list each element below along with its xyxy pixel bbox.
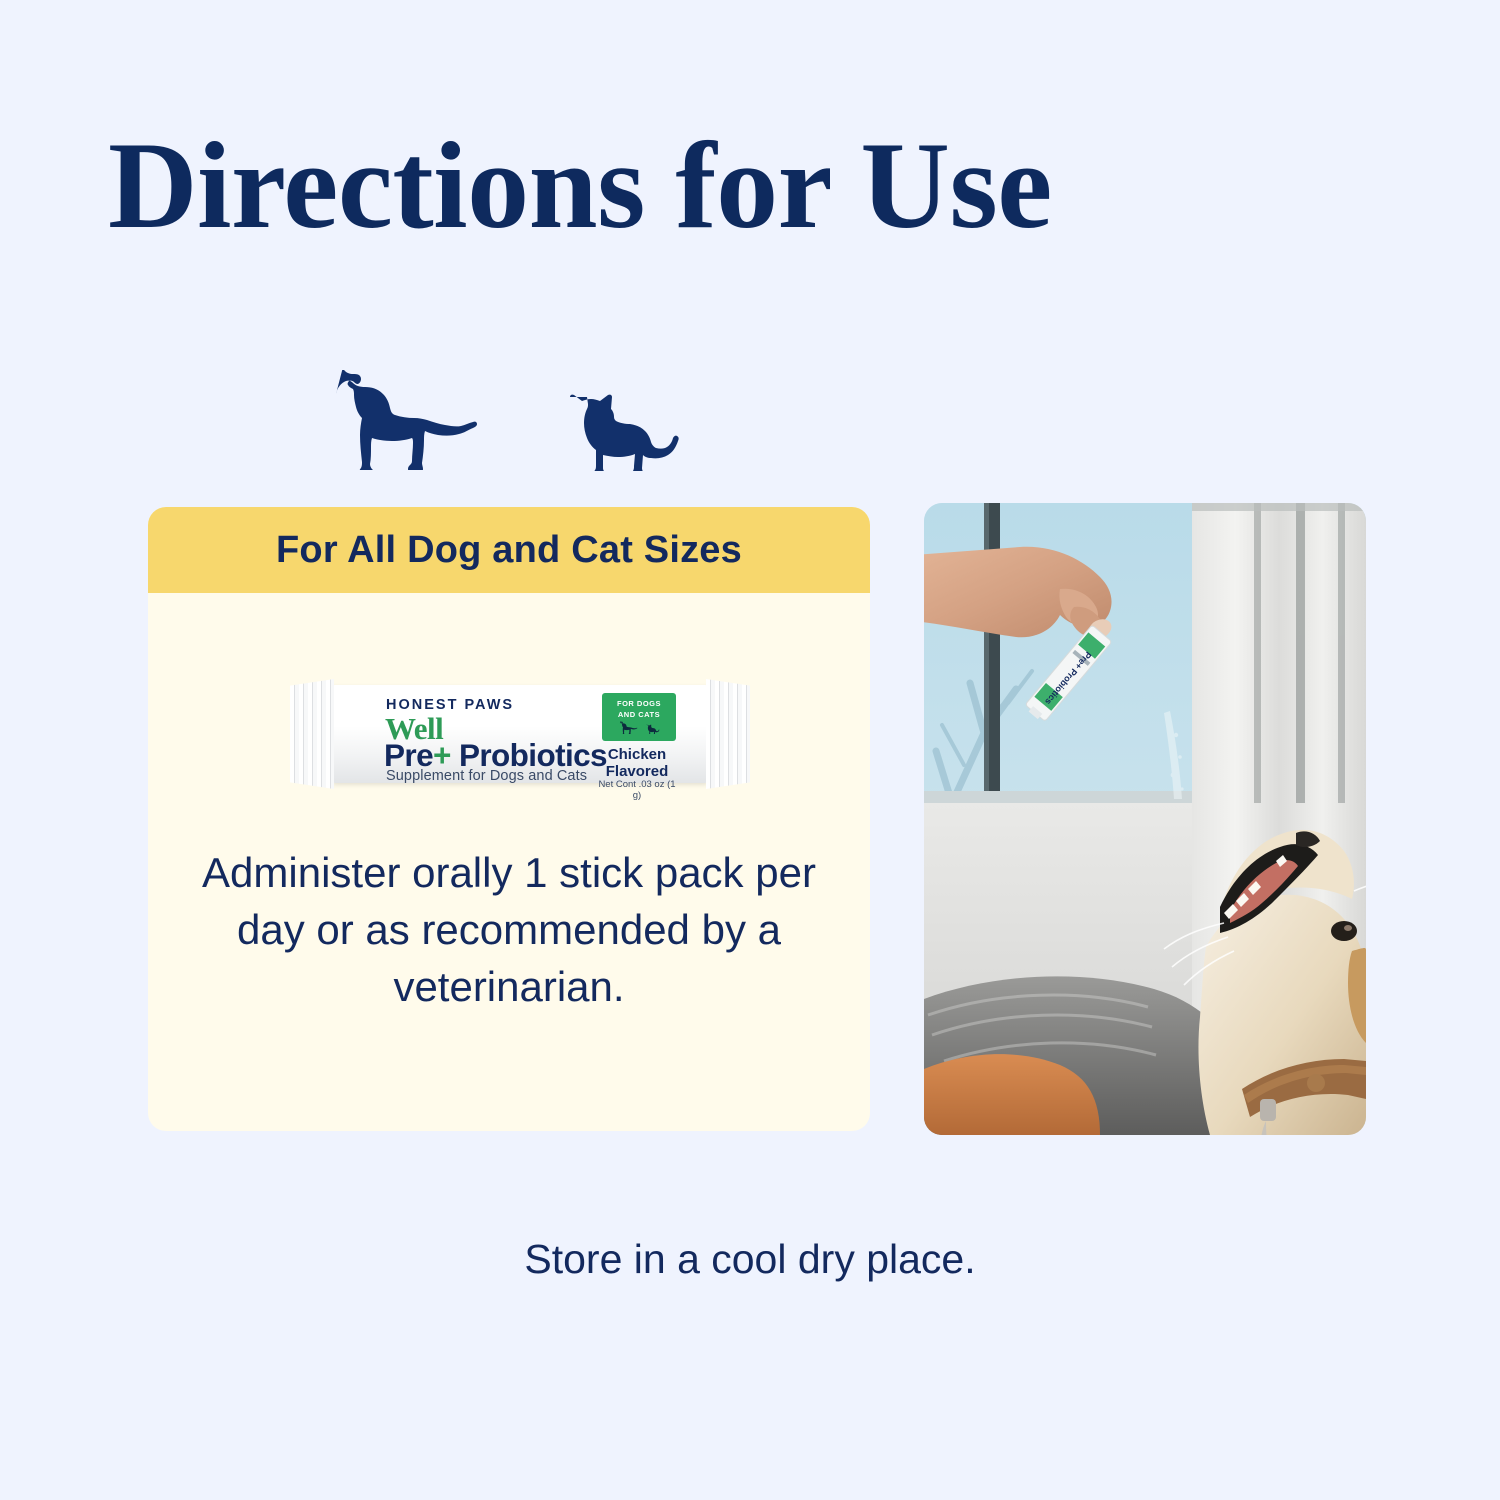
dosage-card: For All Dog and Cat Sizes HONEST PAWS We…: [148, 507, 870, 1131]
stick-pack-badge-line-1: FOR DOGS: [617, 700, 661, 709]
photo-illustration: Pre+ Probiotics: [924, 503, 1366, 1135]
dosage-card-header: For All Dog and Cat Sizes: [148, 507, 870, 593]
stick-pack-flavor: Chicken Flavored: [594, 747, 680, 781]
stick-pack-net-contents: Net Cont .03 oz (1 g): [594, 779, 680, 801]
product-usage-photo: Pre+ Probiotics: [924, 503, 1366, 1135]
cat-silhouette-icon: [544, 391, 684, 471]
stick-pack-badge-line-2: AND CATS: [618, 711, 660, 720]
stick-pack-crimp-right: [706, 679, 750, 789]
dog-silhouette-icon: [322, 370, 482, 470]
stick-pack-crimp-left: [290, 679, 334, 789]
pet-silhouettes: [322, 366, 722, 486]
page-title: Directions for Use: [108, 124, 1052, 248]
badge-cat-icon: [643, 724, 660, 734]
stick-pack-badge: FOR DOGS AND CATS: [602, 693, 676, 741]
badge-dog-icon: [618, 721, 638, 734]
stick-pack-badge-icons: [618, 721, 660, 734]
storage-note: Store in a cool dry place.: [0, 1236, 1500, 1283]
stick-pack-illustration: HONEST PAWS Well Pre+ Probiotics Supplem…: [290, 675, 750, 793]
dosage-instruction-text: Administer orally 1 stick pack per day o…: [188, 844, 830, 1015]
dosage-card-header-label: For All Dog and Cat Sizes: [276, 529, 742, 572]
stick-pack-subtitle: Supplement for Dogs and Cats: [386, 768, 587, 784]
